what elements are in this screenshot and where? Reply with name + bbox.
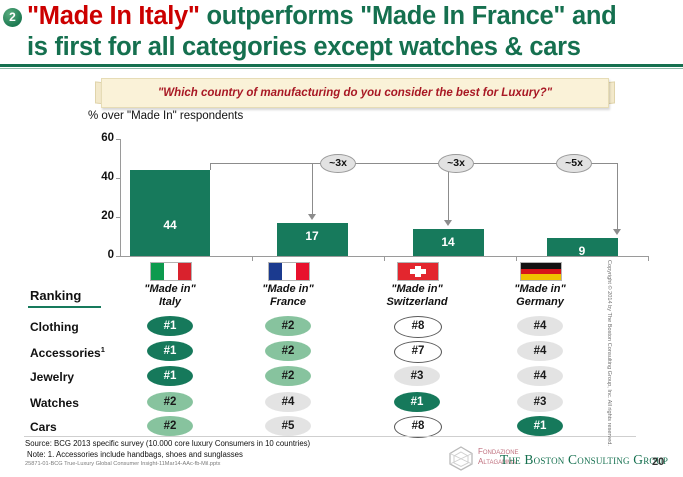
country-label-germany: "Made in"Germany [480,283,600,309]
country-label-italy: "Made in"Italy [110,283,230,309]
ranking-badge: #1 [147,341,193,361]
country-label-line2: France [270,296,306,308]
country-label-line2: Switzerland [386,296,447,308]
y-axis-tick-mark [116,217,120,218]
connector-arrowhead [613,229,621,235]
y-axis-tick-label: 60 [88,132,114,144]
x-axis-tick-mark [516,256,517,261]
flag-band [296,263,309,280]
y-axis-tick-label: 20 [88,210,114,222]
connector-arrowhead [444,220,452,226]
ranking-badge: #4 [517,316,563,336]
bcg-wordmark: The Boston Consulting Group [500,452,668,468]
ranking-badge: #1 [517,416,563,436]
chart-bar [130,170,210,256]
y-axis-tick-mark [116,178,120,179]
connector-riser [210,163,211,170]
x-axis-tick-mark [384,256,385,261]
slide-title-area: 2 "Made In Italy" outperforms "Made In F… [0,0,683,66]
x-axis-tick-mark [648,256,649,261]
ranking-badge: #7 [394,341,442,363]
chart-y-axis [120,139,121,256]
page-title-rest: outperforms "Made In France" and [200,2,617,30]
question-banner: "Which country of manufacturing do you c… [101,78,609,108]
ranking-badge: #2 [265,316,311,336]
chart-bar-value-label: 9 [547,244,618,258]
country-label-line1: "Made in" [144,283,195,295]
y-axis-tick-mark [116,139,120,140]
chart-bar-value-label: 14 [413,235,484,249]
ranking-badge: #8 [394,416,442,438]
copyright-notice: Copyright © 2014 by The Boston Consultin… [606,260,612,430]
flag-band [521,274,561,280]
ranking-badge: #8 [394,316,442,338]
ranking-badge: #5 [265,416,311,436]
title-divider-secondary [0,68,683,69]
page-title-line2: is first for all categories except watch… [27,33,581,61]
country-label-france: "Made in"France [228,283,348,309]
ranking-badge: #1 [147,366,193,386]
flag-band [151,263,164,280]
germany-flag [520,262,562,281]
page-number: 20 [652,456,664,468]
switzerland-flag [397,262,439,281]
question-banner-text: "Which country of manufacturing do you c… [102,79,608,107]
ranking-header-underline [28,306,101,308]
ranking-badge: #2 [265,366,311,386]
country-label-swiss: "Made in"Switzerland [357,283,477,309]
chart-multiple-annotation: ~3x [438,154,474,173]
footnote-marker: 1 [101,345,105,354]
ranking-badge: #3 [517,392,563,412]
ranking-badge: #3 [394,366,440,386]
x-axis-tick-mark [252,256,253,261]
y-axis-tick-label: 40 [88,171,114,183]
ranking-badge: #2 [265,341,311,361]
connector-drop [617,163,618,229]
connector-arrowhead [308,214,316,220]
ranking-badge: #4 [517,341,563,361]
chart-bar-value-label: 17 [277,229,348,243]
altagamma-logo-icon [447,444,475,472]
page-title: "Made In Italy" outperforms "Made In Fra… [27,1,677,63]
source-note: Source: BCG 2013 specific survey (10.000… [25,439,310,449]
slide-number-badge: 2 [3,8,22,27]
flag-band [282,263,295,280]
ranking-badge: #4 [265,392,311,412]
ranking-badge: #4 [517,366,563,386]
ranking-badge: #2 [147,416,193,436]
file-reference: 25871-01-BCG True-Luxury Global Consumer… [25,461,220,467]
title-divider [0,64,683,67]
ranking-badge: #2 [147,392,193,412]
flag-band [269,263,282,280]
chart-axis-note: % over "Made In" respondents [88,110,243,122]
country-label-line2: Germany [516,296,564,308]
country-label-line2: Italy [159,296,181,308]
flag-band [178,263,191,280]
country-label-line1: "Made in" [514,283,565,295]
footnote: Note: 1. Accessories include handbags, s… [27,450,243,460]
swiss-cross-icon-bar [410,269,426,274]
country-label-line1: "Made in" [262,283,313,295]
footer-divider [24,436,636,437]
country-label-line1: "Made in" [391,283,442,295]
ranking-badge: #1 [147,316,193,336]
connector-drop [312,163,313,214]
y-axis-tick-label: 0 [88,249,114,261]
bar-chart: 02040604417149~3x~3x~5x [88,130,648,265]
italy-flag [150,262,192,281]
chart-multiple-annotation: ~3x [320,154,356,173]
chart-multiple-annotation: ~5x [556,154,592,173]
chart-bar-value-label: 44 [130,218,210,232]
page-title-highlight: "Made In Italy" [27,2,200,30]
france-flag [268,262,310,281]
y-axis-tick-mark [116,256,120,257]
flag-band [164,263,177,280]
ranking-header: Ranking [30,288,81,303]
ranking-badge: #1 [394,392,440,412]
